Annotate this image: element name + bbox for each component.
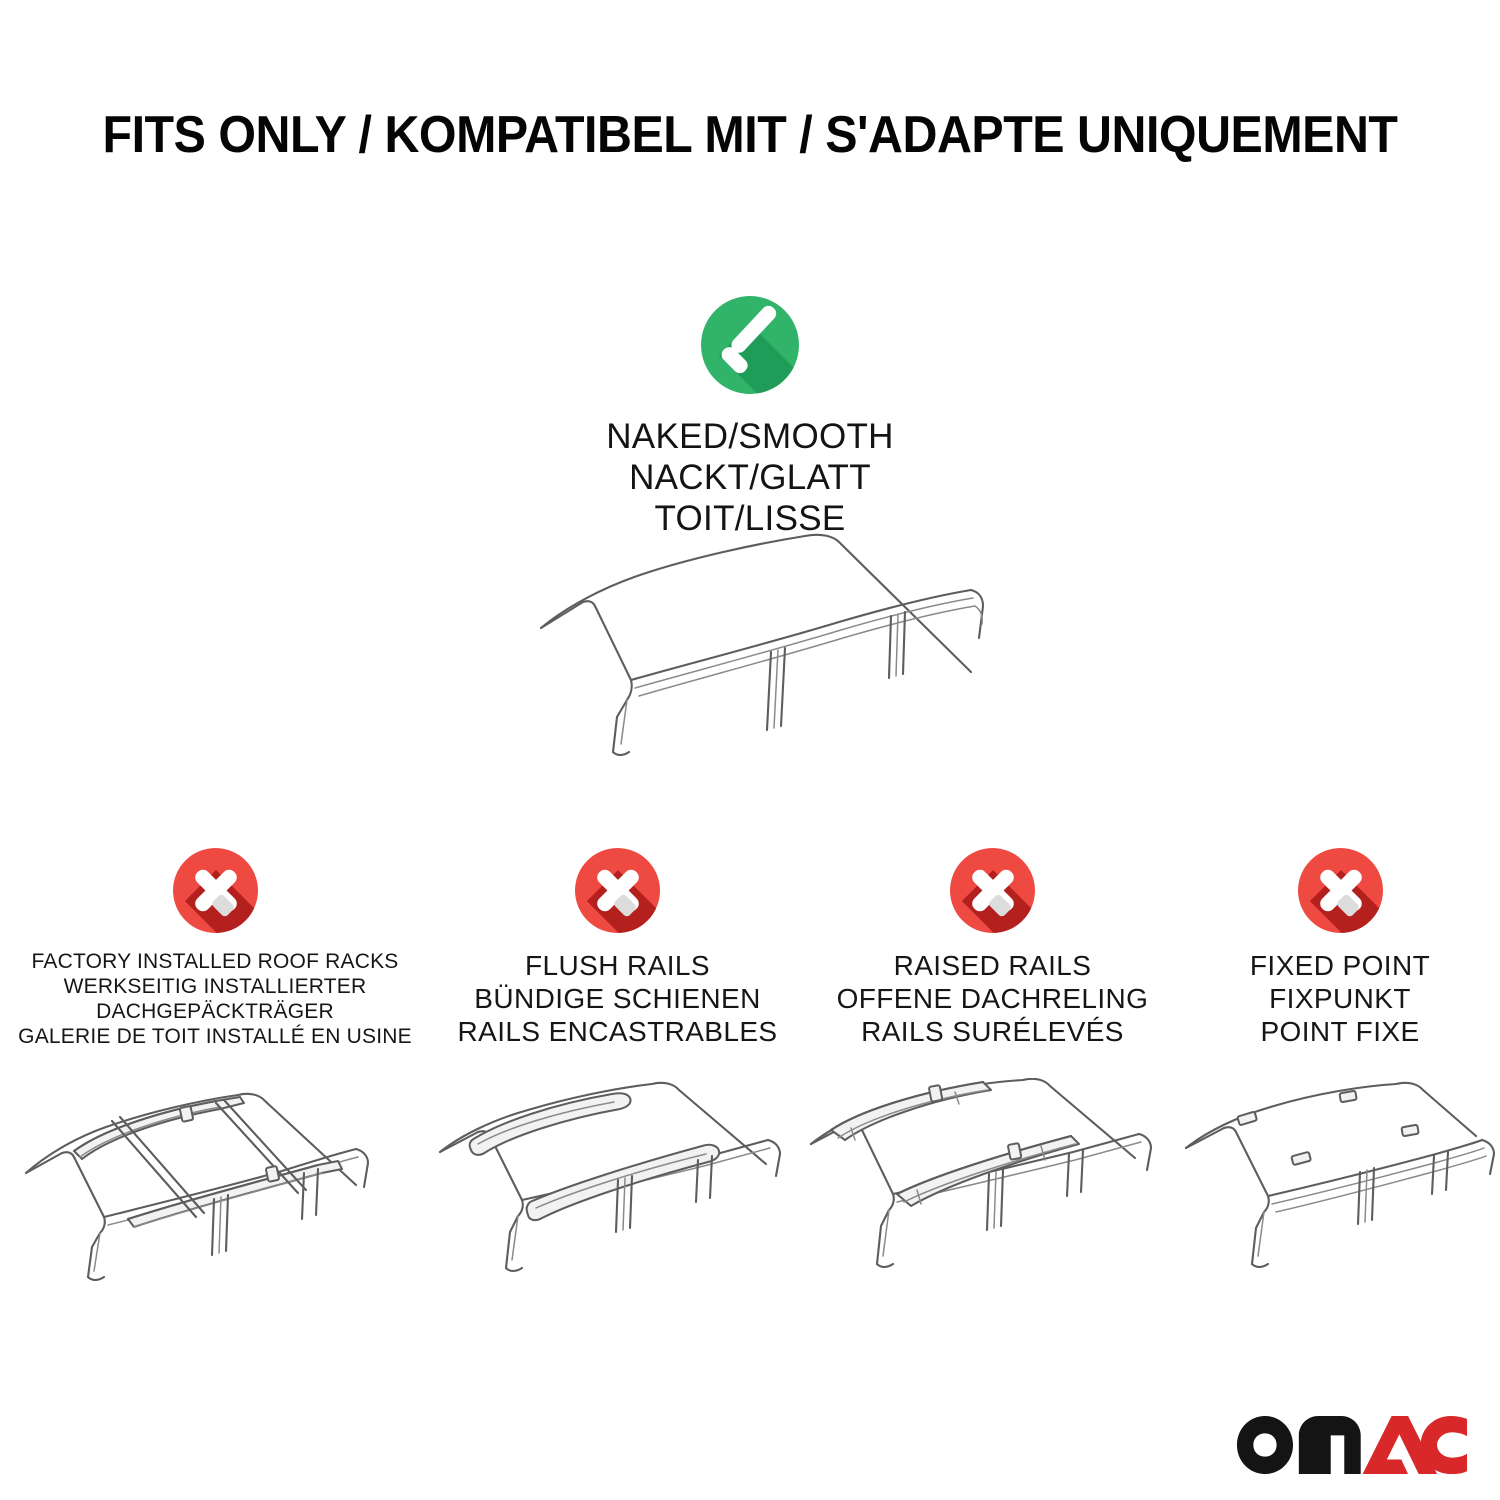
car-roof-naked-smooth-illustration [505, 512, 1015, 792]
incompatible-label-line-3: RAILS SURÉLEVÉS [808, 1015, 1178, 1048]
incompatible-label-line-2: FIXPUNKT [1185, 982, 1495, 1015]
omac-logo [1236, 1412, 1468, 1478]
incompatible-label-line-1: FLUSH RAILS [433, 949, 803, 982]
incompatible-label-line-1: FIXED POINT [1185, 949, 1495, 982]
incompatible-label-line-4: GALERIE DE TOIT INSTALLÉ EN USINE [5, 1024, 425, 1049]
incompatible-label-line-2: BÜNDIGE SCHIENEN [433, 982, 803, 1015]
car-roof-flush-rails-illustration [430, 1078, 805, 1293]
compatible-label-line-1: NAKED/SMOOTH [470, 416, 1030, 457]
incompatible-label-line-3: DACHGEPÄCKTRÄGER [5, 999, 425, 1024]
incompatible-label: FLUSH RAILS BÜNDIGE SCHIENEN RAILS ENCAS… [433, 949, 803, 1048]
compatible-label-line-2: NACKT/GLATT [470, 457, 1030, 498]
car-roof-fixed-point-illustration [1180, 1078, 1500, 1293]
x-circle-icon [173, 848, 258, 933]
incompatible-item-fixed-point: FIXED POINT FIXPUNKT POINT FIXE [1180, 848, 1500, 1293]
incompatible-label-line-3: POINT FIXE [1185, 1015, 1495, 1048]
incompatible-label-line-1: FACTORY INSTALLED ROOF RACKS [5, 949, 425, 974]
logo-letter-o [1237, 1416, 1293, 1474]
incompatible-roof-types: FACTORY INSTALLED ROOF RACKS WERKSEITIG … [0, 848, 1500, 1293]
incompatible-item-factory-installed-roof-racks: FACTORY INSTALLED ROOF RACKS WERKSEITIG … [0, 848, 430, 1284]
car-roof-factory-rack-illustration [0, 1069, 430, 1284]
incompatible-item-flush-rails: FLUSH RAILS BÜNDIGE SCHIENEN RAILS ENCAS… [430, 848, 805, 1293]
check-mark [701, 296, 799, 394]
incompatible-label: RAISED RAILS OFFENE DACHRELING RAILS SUR… [808, 949, 1178, 1048]
incompatible-label-line-2: WERKSEITIG INSTALLIERTER [5, 974, 425, 999]
incompatible-label-line-2: OFFENE DACHRELING [808, 982, 1178, 1015]
page-title: FITS ONLY / KOMPATIBEL MIT / S'ADAPTE UN… [53, 104, 1448, 166]
logo-letter-m [1299, 1416, 1361, 1474]
check-circle-icon [701, 296, 799, 394]
compatible-roof-type: NAKED/SMOOTH NACKT/GLATT TOIT/LISSE [470, 296, 1030, 539]
x-circle-icon [1298, 848, 1383, 933]
incompatible-item-raised-rails: RAISED RAILS OFFENE DACHRELING RAILS SUR… [805, 848, 1180, 1293]
incompatible-label-line-3: RAILS ENCASTRABLES [433, 1015, 803, 1048]
car-roof-raised-rails-illustration [805, 1078, 1180, 1293]
x-circle-icon [575, 848, 660, 933]
incompatible-label-line-1: RAISED RAILS [808, 949, 1178, 982]
x-circle-icon [950, 848, 1035, 933]
incompatible-label: FIXED POINT FIXPUNKT POINT FIXE [1185, 949, 1495, 1048]
incompatible-label: FACTORY INSTALLED ROOF RACKS WERKSEITIG … [5, 949, 425, 1049]
